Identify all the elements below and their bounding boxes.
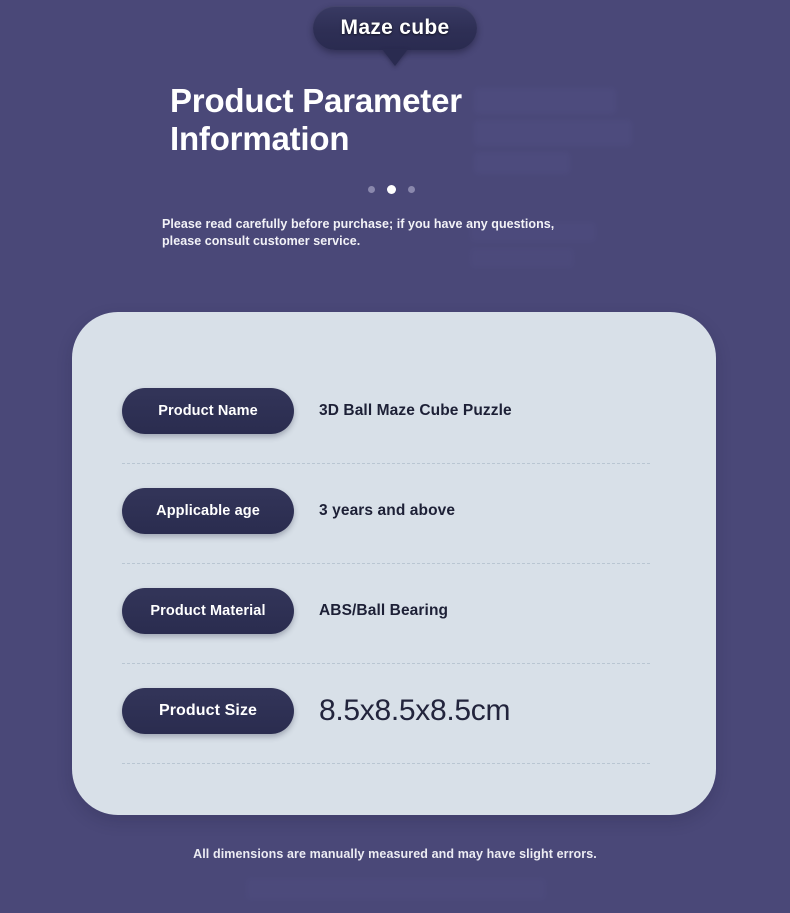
pagination-dots bbox=[368, 185, 415, 194]
maze-cube-badge: Maze cube bbox=[313, 6, 477, 50]
spec-value: 3 years and above bbox=[319, 502, 455, 520]
spec-card: Product Name 3D Ball Maze Cube Puzzle Ap… bbox=[72, 312, 716, 815]
pagination-dot bbox=[408, 186, 415, 193]
spec-table: Product Name 3D Ball Maze Cube Puzzle Ap… bbox=[122, 375, 650, 775]
speech-bubble-tail-icon bbox=[382, 49, 408, 66]
row-divider bbox=[122, 763, 650, 764]
spec-label-pill: Applicable age bbox=[122, 488, 294, 534]
subtitle-line-1: Please read carefully before purchase; i… bbox=[162, 216, 614, 233]
footer-disclaimer: All dimensions are manually measured and… bbox=[0, 847, 790, 861]
pagination-dot bbox=[368, 186, 375, 193]
spec-label: Product Size bbox=[159, 702, 257, 720]
row-divider bbox=[122, 463, 650, 464]
product-parameter-graphic: Maze cube Product Parameter Information … bbox=[0, 0, 790, 913]
spec-label-pill: Product Size bbox=[122, 688, 294, 734]
pagination-dot-active bbox=[387, 185, 396, 194]
spec-row: Product Material ABS/Ball Bearing bbox=[122, 575, 650, 675]
spec-label: Product Name bbox=[158, 403, 258, 419]
ghost-block bbox=[246, 878, 546, 900]
spec-row: Product Size 8.5x8.5x8.5cm bbox=[122, 675, 650, 775]
spec-row: Applicable age 3 years and above bbox=[122, 475, 650, 575]
row-divider bbox=[122, 663, 650, 664]
spec-label: Product Material bbox=[150, 603, 265, 619]
page-title-line-1: Product Parameter bbox=[170, 82, 600, 120]
spec-row: Product Name 3D Ball Maze Cube Puzzle bbox=[122, 375, 650, 475]
spec-value: 3D Ball Maze Cube Puzzle bbox=[319, 402, 512, 420]
subtitle-note: Please read carefully before purchase; i… bbox=[162, 216, 614, 250]
subtitle-line-2: please consult customer service. bbox=[162, 233, 614, 250]
spec-label-pill: Product Material bbox=[122, 588, 294, 634]
row-divider bbox=[122, 563, 650, 564]
page-title-line-2: Information bbox=[170, 120, 600, 158]
speech-bubble: Maze cube bbox=[313, 6, 477, 50]
spec-label: Applicable age bbox=[156, 503, 260, 519]
spec-value: 8.5x8.5x8.5cm bbox=[319, 694, 510, 728]
spec-value: ABS/Ball Bearing bbox=[319, 602, 448, 620]
spec-label-pill: Product Name bbox=[122, 388, 294, 434]
ghost-block bbox=[470, 248, 574, 268]
page-title: Product Parameter Information bbox=[170, 82, 600, 158]
speech-bubble-label: Maze cube bbox=[341, 16, 450, 40]
